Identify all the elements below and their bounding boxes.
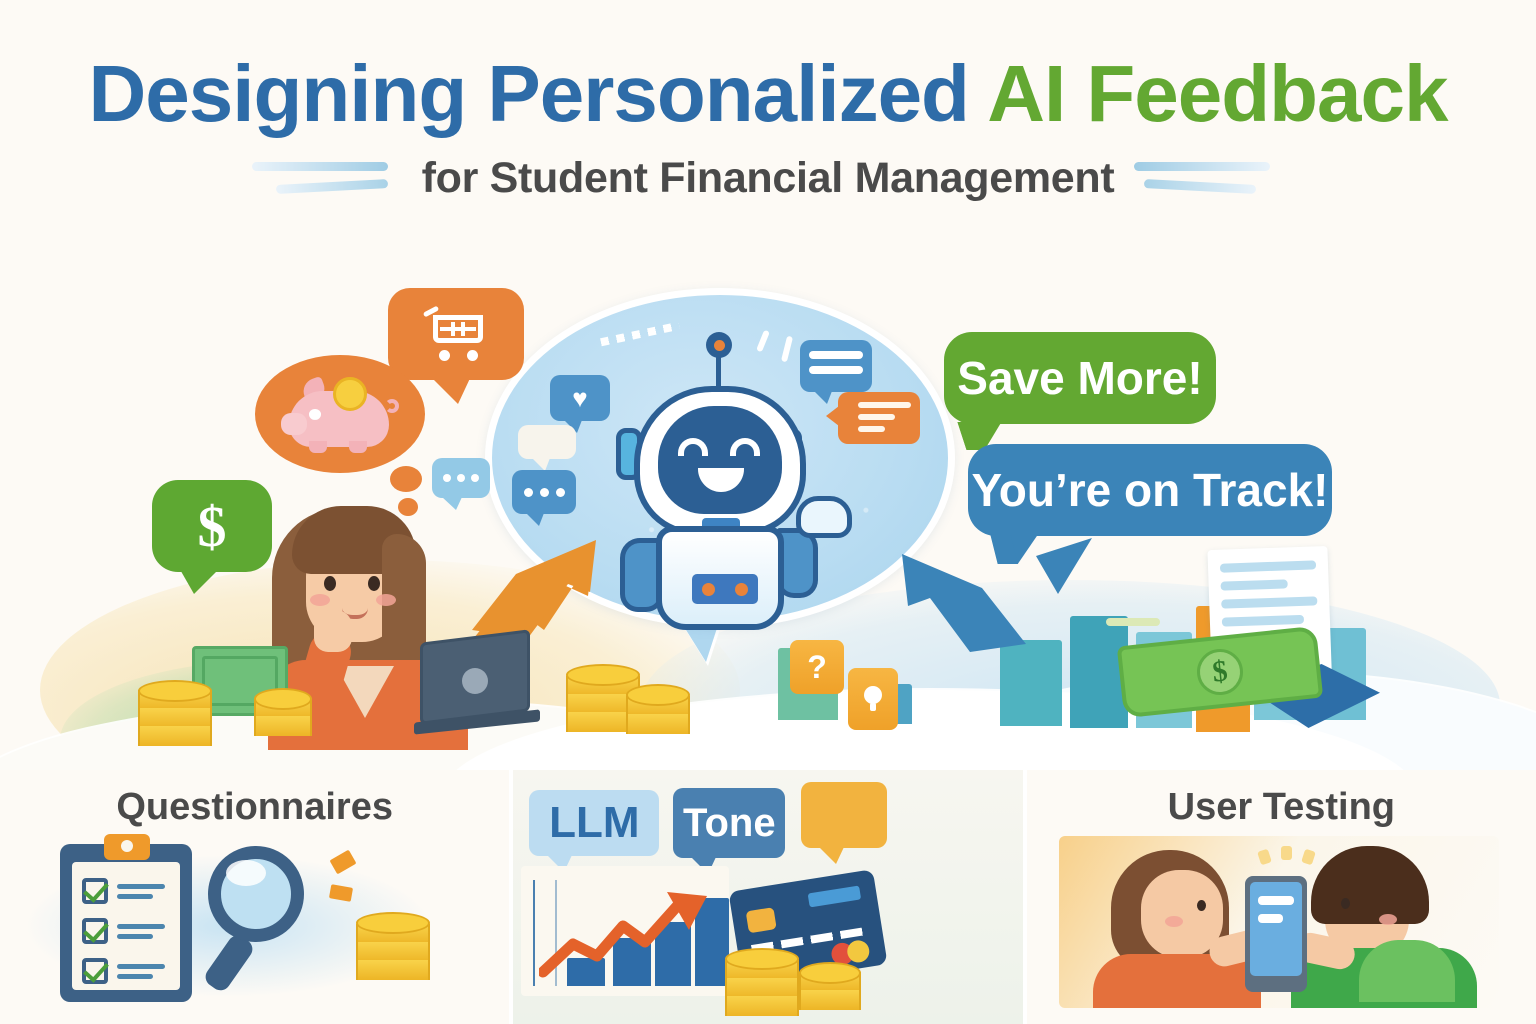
ai-assistant-robot	[600, 330, 840, 630]
coin-top	[725, 948, 799, 970]
user-b-hair	[1311, 846, 1429, 924]
checklist-text	[117, 924, 165, 939]
idea-card	[848, 668, 898, 730]
coin	[626, 714, 690, 734]
title-part-blue: Designing Personalized	[89, 49, 988, 138]
dash-line	[1134, 162, 1270, 171]
panel-user-testing[interactable]: User Testing	[1023, 770, 1536, 1024]
robot-visor	[658, 406, 782, 514]
laptop-logo	[462, 668, 488, 694]
coin-icon	[333, 377, 367, 411]
coin-top	[799, 962, 861, 984]
panel-title-questionnaires: Questionnaires	[0, 786, 509, 829]
text-line	[117, 884, 165, 889]
panel-title-user-testing: User Testing	[1027, 786, 1536, 829]
coin	[356, 942, 430, 962]
chest-light	[735, 583, 748, 596]
robot-eye-right	[730, 438, 760, 456]
checklist-row	[82, 918, 165, 944]
coin-top	[356, 912, 430, 934]
cart-grid	[440, 322, 476, 336]
decorative-dashes-left	[252, 156, 402, 202]
robot-waving-hand	[796, 496, 852, 538]
chat-line	[858, 414, 895, 420]
smartphone-icon	[1245, 876, 1307, 992]
infographic-canvas: Designing Personalized AI Feedback for S…	[0, 0, 1536, 1024]
page-title: Designing Personalized AI Feedback	[0, 54, 1536, 134]
user-b-hood	[1359, 940, 1455, 1002]
panel-llm-tone[interactable]: LLM Tone	[509, 770, 1022, 1024]
magnifier-lens	[208, 846, 304, 942]
checklist-text	[117, 884, 165, 899]
text-line	[117, 974, 153, 979]
checkbox-checked	[82, 958, 108, 984]
spark-icon	[1301, 849, 1316, 866]
checklist-row	[82, 878, 165, 904]
antenna-light	[714, 340, 725, 351]
checkbox-checked	[82, 918, 108, 944]
dot	[457, 474, 465, 482]
chart-axis	[533, 880, 535, 986]
chat-line	[858, 426, 885, 432]
spark-icon	[1257, 849, 1272, 866]
coin	[725, 978, 799, 998]
pig-eye	[309, 409, 321, 420]
shopping-cart-icon	[423, 309, 489, 359]
spark-icon	[1281, 846, 1292, 860]
student-eye-right	[368, 576, 380, 591]
user-b-eye	[1341, 898, 1350, 909]
dollar-bubble: $	[152, 480, 272, 572]
dot	[471, 474, 479, 482]
two-users-phone-icon	[1059, 836, 1499, 1008]
dot	[540, 488, 549, 497]
text-line	[117, 934, 153, 939]
growth-chart-icon	[521, 866, 729, 996]
lightbulb-icon	[862, 684, 884, 714]
coin	[356, 960, 430, 980]
student-eye-left	[324, 576, 336, 591]
llm-badge-label: LLM	[549, 798, 639, 848]
user-b-blush	[1379, 914, 1397, 925]
page-subtitle: for Student Financial Management	[422, 154, 1115, 203]
piggy-bank-icon	[281, 375, 399, 453]
checkbox-checked	[82, 878, 108, 904]
pig-leg	[309, 441, 327, 453]
chat-line	[858, 402, 911, 408]
dash-line	[275, 179, 387, 194]
doc-line	[1221, 596, 1317, 608]
coin	[799, 990, 861, 1010]
text-line	[117, 924, 165, 929]
cart-wheel	[467, 350, 478, 361]
dot	[443, 474, 451, 482]
dot	[524, 488, 533, 497]
pig-leg	[349, 441, 367, 453]
coin	[254, 716, 312, 736]
scene-bar-marker	[1106, 618, 1160, 626]
pig-tail	[385, 399, 399, 413]
ellipsis-chat-icon	[512, 470, 576, 514]
student-blush	[310, 594, 330, 606]
coin-top	[138, 680, 212, 702]
shopping-cart-bubble	[388, 288, 524, 380]
coin	[138, 726, 212, 746]
user-a-blush	[1165, 916, 1183, 927]
save-more-bubble[interactable]: Save More!	[944, 332, 1216, 424]
tone-badge[interactable]: Tone	[673, 788, 785, 858]
coin-top	[626, 684, 690, 706]
robot-smile	[698, 468, 744, 492]
coin	[725, 996, 799, 1016]
input-arrow-orange	[470, 534, 600, 642]
dash-line	[252, 162, 388, 171]
dot	[556, 488, 565, 497]
screen-line	[1258, 914, 1283, 923]
robot-body	[656, 526, 784, 630]
doc-line	[1222, 615, 1304, 627]
llm-badge[interactable]: LLM	[529, 790, 659, 856]
blank-chat-icon	[518, 425, 576, 459]
student-hand	[314, 610, 352, 652]
cart-wheel	[439, 350, 450, 361]
coin-top	[566, 664, 640, 686]
method-panels: Questionnaires	[0, 770, 1536, 1024]
clipboard-sheet	[72, 862, 180, 990]
robot-chest-panel	[692, 574, 758, 604]
coin	[138, 708, 212, 728]
coin-top	[254, 688, 312, 710]
dash-line	[1144, 179, 1256, 194]
pig-snout	[281, 413, 307, 435]
screen-line	[1258, 896, 1294, 905]
text-line	[117, 894, 153, 899]
phone-screen	[1250, 882, 1302, 976]
checklist-text	[117, 964, 165, 979]
doc-line	[1221, 579, 1288, 590]
doc-line	[1220, 560, 1316, 572]
piggy-bank-bubble	[255, 355, 425, 473]
title-block: Designing Personalized AI Feedback for S…	[0, 54, 1536, 203]
dollar-sign-icon: $	[1195, 647, 1246, 698]
user-a-eye	[1197, 900, 1206, 911]
magnifier-glare	[226, 860, 266, 886]
trend-arrow-icon	[539, 886, 719, 982]
clipboard-checklist-icon	[60, 844, 192, 1002]
decorative-dashes-right	[1134, 156, 1284, 202]
text-line	[117, 964, 165, 969]
question-card: ?	[790, 640, 844, 694]
card-chip	[746, 907, 777, 933]
card-stripe	[808, 886, 862, 908]
panel-questionnaires[interactable]: Questionnaires	[0, 770, 509, 1024]
student-blush	[376, 594, 396, 606]
message-lines-badge[interactable]	[801, 782, 887, 848]
robot-eye-left	[678, 438, 708, 456]
clipboard-clip	[104, 834, 150, 860]
laptop-icon	[414, 636, 540, 732]
magnifier-icon	[208, 846, 320, 992]
tone-badge-label: Tone	[683, 801, 776, 846]
thought-puff	[390, 466, 422, 492]
on-track-bubble[interactable]: You’re on Track!	[968, 444, 1332, 536]
title-part-green: AI Feedback	[987, 49, 1447, 138]
robot-head	[634, 386, 806, 536]
orange-message-icon	[838, 392, 920, 444]
chest-light	[702, 583, 715, 596]
secondary-arrow-blue	[1006, 536, 1096, 598]
subtitle-row: for Student Financial Management	[0, 154, 1536, 203]
checklist-row	[82, 958, 165, 984]
